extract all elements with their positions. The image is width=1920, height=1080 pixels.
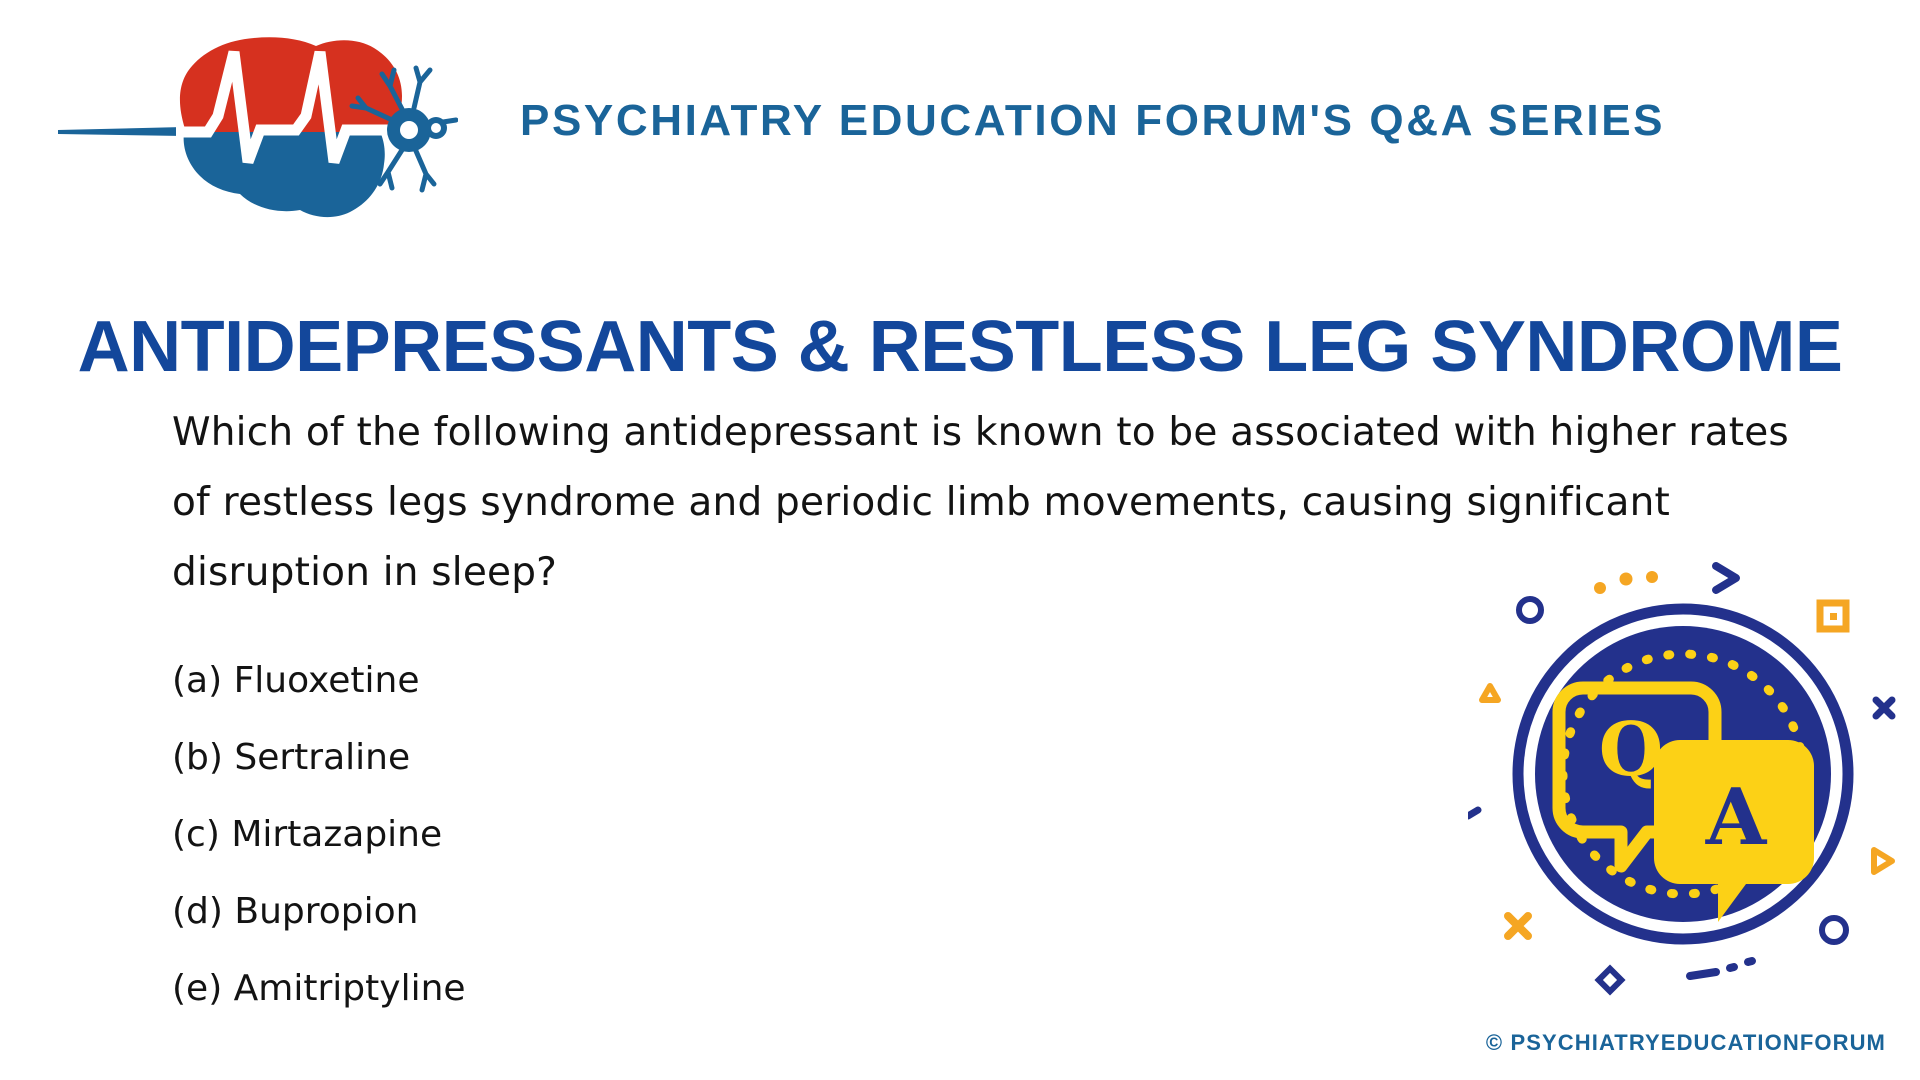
list-item[interactable]: (d) Bupropion (172, 873, 1072, 950)
list-item[interactable]: (c) Mirtazapine (172, 796, 1072, 873)
page-title: ANTIDEPRESSANTS & RESTLESS LEG SYNDROME (0, 306, 1920, 388)
list-item[interactable]: (b) Sertraline (172, 719, 1072, 796)
badge-letter-a: A (1705, 772, 1768, 863)
brain-ecg-neuron-logo (58, 12, 458, 227)
copyright-footer: © PSYCHIATRYEDUCATIONFORUM (1486, 1030, 1886, 1056)
answer-options-list: (a) Fluoxetine (b) Sertraline (c) Mirtaz… (172, 642, 1072, 1027)
qa-speech-bubble-badge-icon: Q A (1468, 548, 1898, 998)
page-header: PSYCHIATRY EDUCATION FORUM'S Q&A SERIES (0, 0, 1920, 235)
header-title: PSYCHIATRY EDUCATION FORUM'S Q&A SERIES (520, 96, 1820, 146)
list-item[interactable]: (e) Amitriptyline (172, 950, 1072, 1027)
badge-letter-q: Q (1599, 707, 1663, 793)
list-item[interactable]: (a) Fluoxetine (172, 642, 1072, 719)
